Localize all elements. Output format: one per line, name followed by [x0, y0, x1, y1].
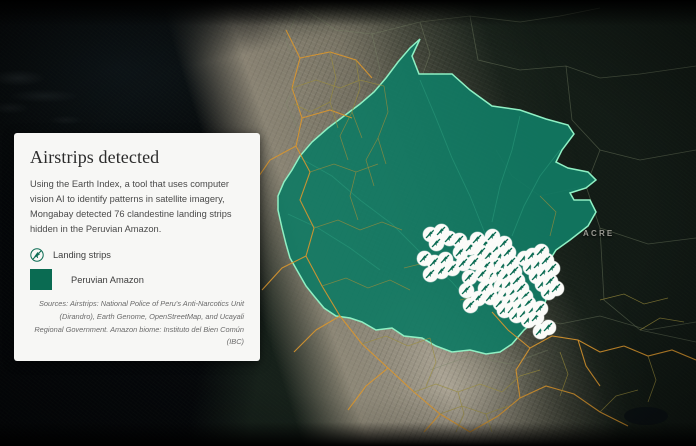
no-landing-strip-icon [30, 248, 44, 262]
airstrip-marker[interactable] [423, 267, 438, 282]
sources-text: Sources: Airstrips: National Police of P… [30, 298, 244, 349]
airstrip-marker[interactable] [549, 281, 564, 296]
page-title: Airstrips detected [30, 147, 244, 168]
map-screenshot: ACRE Airstrips detected Using the Earth … [0, 0, 696, 446]
legend-item-peruvian-amazon: Peruvian Amazon [30, 269, 244, 290]
airstrip-marker[interactable] [463, 298, 478, 313]
airstrip-marker[interactable] [467, 255, 482, 270]
airstrip-marker[interactable] [533, 301, 548, 316]
airstrip-marker[interactable] [541, 320, 556, 335]
legend-item-landing-strips: Landing strips [30, 248, 244, 262]
legend-label-landing-strips: Landing strips [53, 250, 111, 260]
legend-label-peruvian-amazon: Peruvian Amazon [71, 275, 144, 285]
airstrip-marker[interactable] [429, 236, 444, 251]
acre-label: ACRE [583, 229, 614, 238]
legend-panel: Airstrips detected Using the Earth Index… [14, 133, 260, 361]
panel-description: Using the Earth Index, a tool that uses … [30, 177, 244, 237]
color-swatch [30, 269, 52, 290]
